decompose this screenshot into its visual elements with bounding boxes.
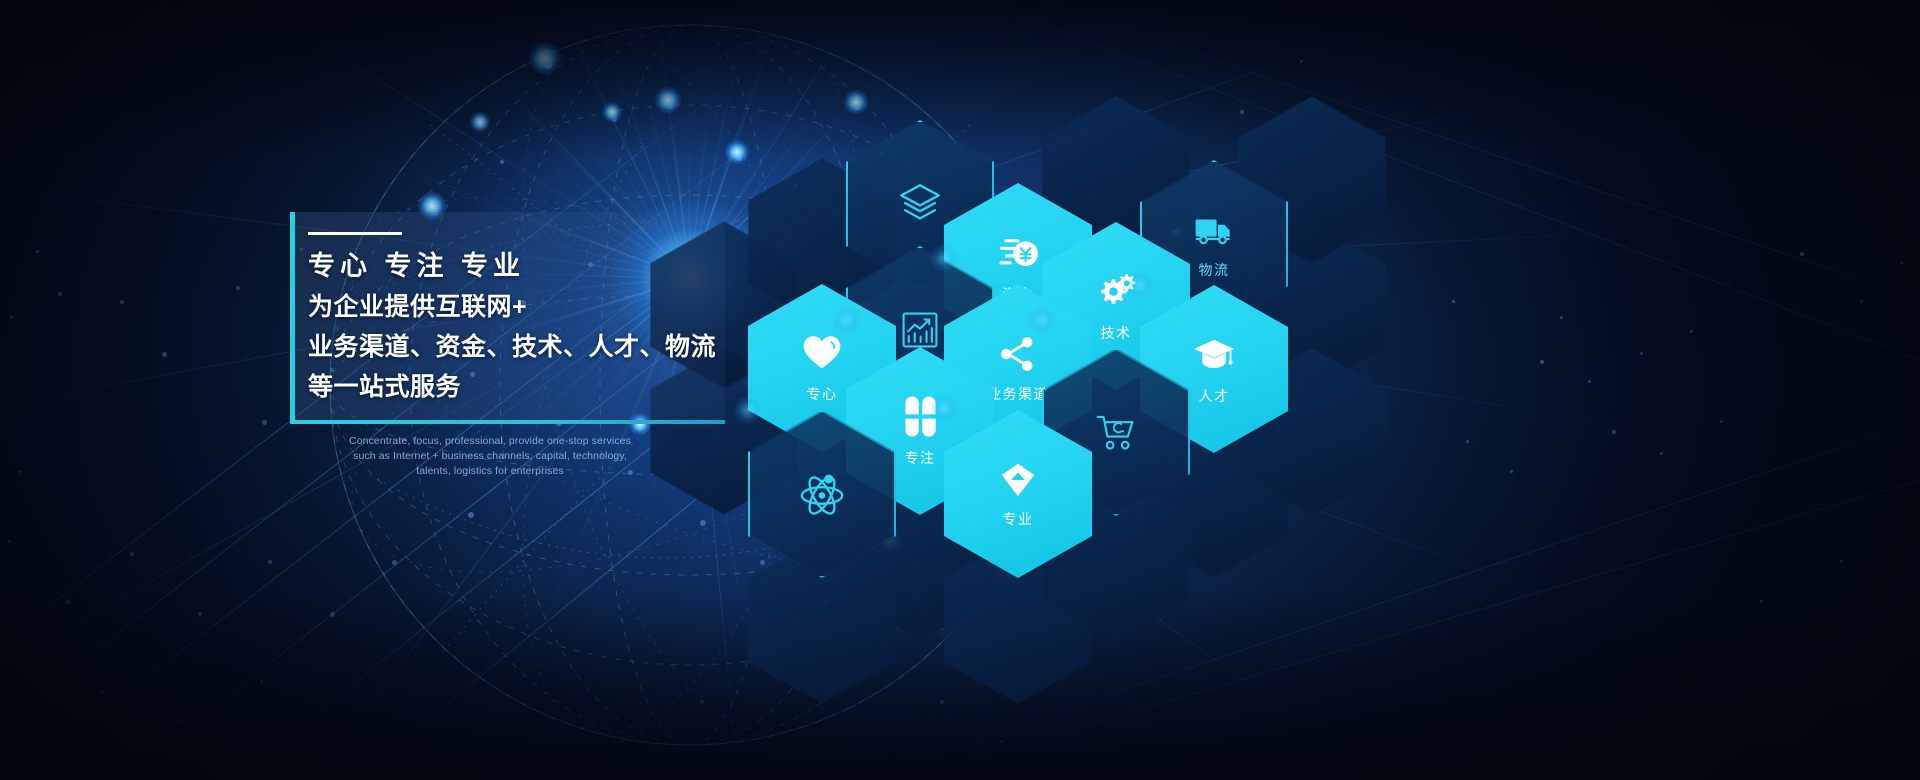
headline-line-3: 业务渠道、资金、技术、人才、物流 [308,327,738,367]
layers-icon [897,181,943,227]
hexagon-label-focus: 专注 [905,448,936,468]
headline-line-4: 等一站式服务 [308,367,738,407]
hexagon-joint-glow [1126,271,1154,299]
panel-underline [290,420,725,424]
shopping-cart-icon [1095,411,1137,453]
hexagon-joint-glow [930,394,958,422]
hexagon-joint-glow [930,244,958,272]
hexagon-label-talent: 人才 [1199,386,1230,406]
hexagon-grid: 资金物流技术专心业务渠道人才专注专业 [0,0,1920,780]
hexagon-label-professional: 专业 [1003,509,1034,529]
headline-block: 专心 专注 专业 为企业提供互联网+ 业务渠道、资金、技术、人才、物流 等一站式… [308,245,738,407]
share-nodes-icon [997,333,1039,375]
hexagon-joint-glow [1028,306,1056,334]
headline-line-2: 为企业提供互联网+ [308,287,738,327]
hexagon-label-logistics: 物流 [1199,260,1230,280]
banner-stage: 资金物流技术专心业务渠道人才专注专业 专心 专注 专业 为企业提供互联网+ 业务… [0,0,1920,780]
hexagon-label-concentrate: 专心 [807,384,838,404]
hexagon-label-tech: 技术 [1101,323,1132,343]
headline-line-1: 专心 专注 专业 [308,245,738,287]
hexagon-label-channels: 业务渠道 [987,384,1049,404]
truck-icon [1193,209,1235,251]
diamond-icon [998,460,1038,500]
yen-money-icon [996,231,1040,275]
subtitle-english: Concentrate, focus, professional, provid… [340,434,640,479]
graduation-cap-icon [1192,333,1236,377]
headline-rule [308,232,402,235]
hexagon-joint-glow [734,396,762,424]
bar-chart-icon [899,309,941,351]
heart-icon [801,333,843,375]
atom-icon [798,470,846,518]
hexagon-joint-glow [832,306,860,334]
